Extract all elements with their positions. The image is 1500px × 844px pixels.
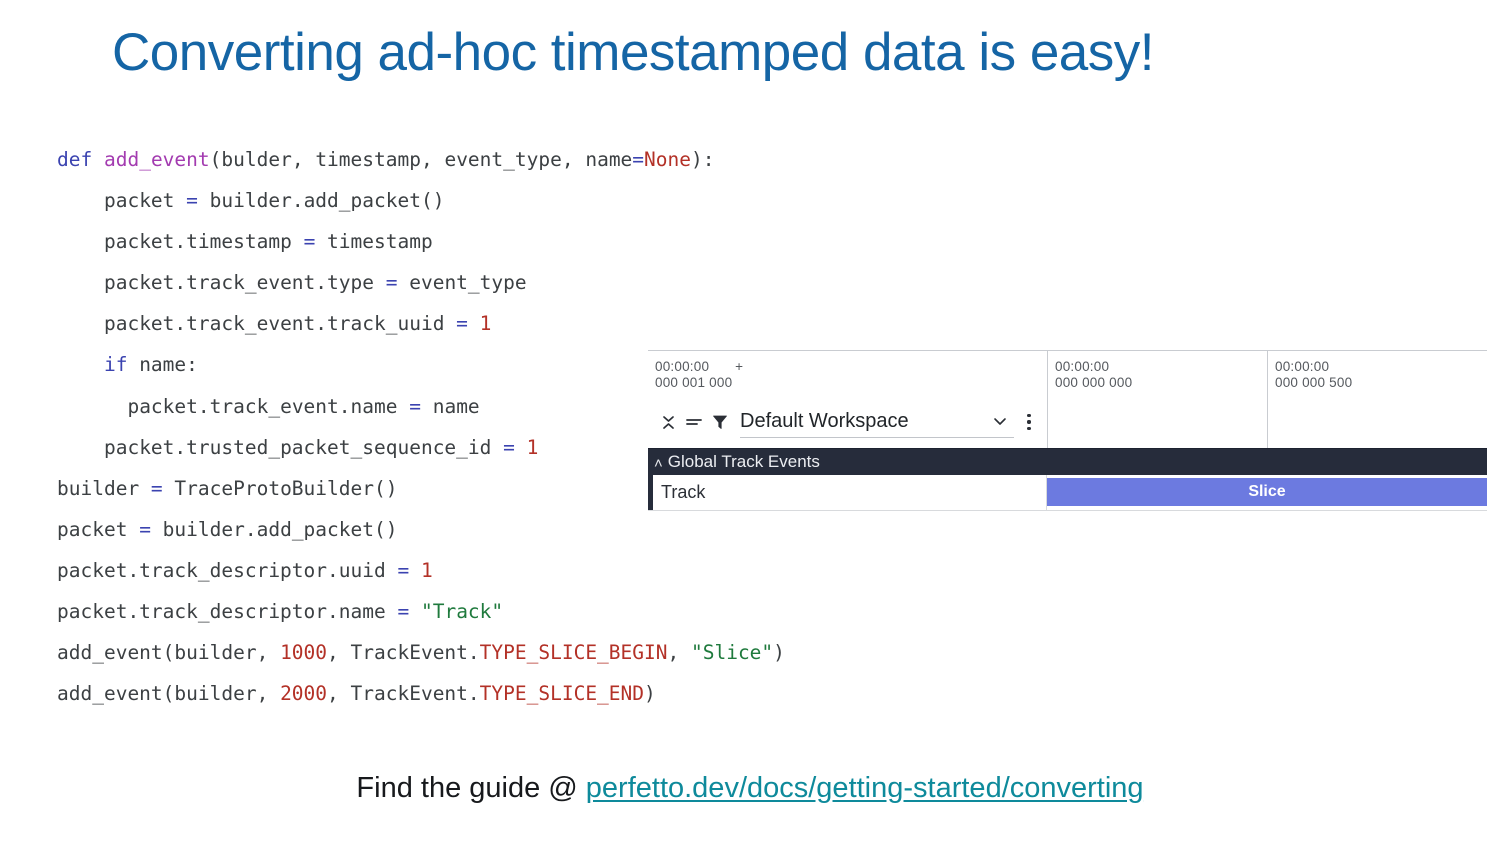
code-line: def add_event(bulder, timestamp, event_t… — [57, 139, 1017, 180]
code-indent — [57, 436, 104, 459]
code-line: add_event(builder, 1000, TrackEvent.TYPE… — [57, 632, 1017, 673]
code-line: packet.track_event.track_uuid = 1 — [57, 303, 1017, 344]
code-token: def — [57, 148, 92, 171]
code-token: TYPE_SLICE_BEGIN — [480, 641, 668, 664]
code-token — [515, 436, 527, 459]
ruler-tick-1: 00:00:00 000 000 000 — [1047, 351, 1267, 448]
ruler-tick-0-hms: 00:00:00 — [655, 359, 709, 374]
code-token: 1 — [480, 312, 492, 335]
code-token: = — [304, 230, 316, 253]
code-indent — [57, 312, 104, 335]
workspace-label: Default Workspace — [740, 410, 990, 433]
code-token: = — [409, 395, 421, 418]
collapse-all-icon[interactable] — [655, 409, 681, 435]
kebab-dot — [1027, 427, 1030, 430]
code-token: packet.track_descriptor.name — [57, 600, 397, 623]
code-token: packet.track_event.name — [127, 395, 409, 418]
code-token: ) — [644, 682, 656, 705]
code-token: = — [397, 600, 409, 623]
code-token: TYPE_SLICE_END — [480, 682, 644, 705]
code-token: 1000 — [280, 641, 327, 664]
code-indent — [57, 230, 104, 253]
code-token: = — [397, 559, 409, 582]
code-line: add_event(builder, 2000, TrackEvent.TYPE… — [57, 673, 1017, 714]
code-token: = — [503, 436, 515, 459]
code-token: packet — [104, 189, 186, 212]
track-canvas[interactable]: Slice — [1047, 475, 1487, 510]
code-token: , TrackEvent. — [327, 641, 480, 664]
code-token: , — [668, 641, 691, 664]
track-shelf[interactable]: Track — [653, 475, 1047, 510]
code-token: add_event(builder, — [57, 641, 280, 664]
timeline-ruler[interactable]: 00:00:00+ 000 001 000 — [648, 351, 1487, 448]
code-token: packet.track_event.type — [104, 271, 386, 294]
code-token: builder.add_packet() — [151, 518, 398, 541]
workspace-toolbar: Default Workspace — [655, 403, 1040, 441]
code-token: = — [386, 271, 398, 294]
code-token: if — [104, 353, 127, 376]
code-token — [92, 148, 104, 171]
code-line: packet.timestamp = timestamp — [57, 221, 1017, 262]
code-token: = — [139, 518, 151, 541]
slice-block[interactable]: Slice — [1047, 478, 1487, 506]
perfetto-timeline-panel: 00:00:00+ 000 001 000 — [648, 350, 1487, 511]
code-token: packet — [57, 518, 139, 541]
chevron-up-icon[interactable]: ˄ — [654, 456, 663, 471]
filter-funnel-icon[interactable] — [707, 409, 733, 435]
code-token: packet.timestamp — [104, 230, 304, 253]
guide-link[interactable]: perfetto.dev/docs/getting-started/conver… — [586, 772, 1144, 804]
ruler-tick-0-plus: + — [735, 359, 743, 375]
ruler-tick-2-sub: 000 000 500 — [1275, 375, 1487, 391]
code-token: (bulder, timestamp, event_type, name — [210, 148, 633, 171]
code-token: add_event — [104, 148, 210, 171]
code-token: builder.add_packet() — [198, 189, 445, 212]
ruler-tick-1-sub: 000 000 000 — [1055, 375, 1267, 391]
footer-prefix: Find the guide @ — [356, 772, 585, 804]
code-token: ) — [773, 641, 785, 664]
track-group-title: Global Track Events — [668, 452, 820, 472]
kebab-dot — [1027, 420, 1030, 423]
kebab-menu-icon[interactable] — [1018, 409, 1040, 435]
code-token: packet.trusted_packet_sequence_id — [104, 436, 503, 459]
code-token: 1 — [421, 559, 433, 582]
code-token: add_event(builder, — [57, 682, 280, 705]
code-token: TraceProtoBuilder() — [163, 477, 398, 500]
code-token — [468, 312, 480, 335]
code-token: 1 — [527, 436, 539, 459]
code-token: = — [632, 148, 644, 171]
code-line: packet = builder.add_packet() — [57, 509, 1017, 550]
code-token: None — [644, 148, 691, 171]
code-indent — [57, 271, 104, 294]
track-name-label: Track — [661, 482, 705, 503]
code-token: packet.track_descriptor.uuid — [57, 559, 397, 582]
code-token: = — [151, 477, 163, 500]
code-token: ): — [691, 148, 714, 171]
code-indent — [57, 395, 127, 418]
code-token: timestamp — [315, 230, 432, 253]
code-token: name — [421, 395, 480, 418]
code-token: packet.track_event.track_uuid — [104, 312, 456, 335]
kebab-dot — [1027, 414, 1030, 417]
page-title: Converting ad-hoc timestamped data is ea… — [112, 22, 1412, 85]
code-token: builder — [57, 477, 151, 500]
code-line: packet.track_descriptor.name = "Track" — [57, 591, 1017, 632]
code-line: packet.track_descriptor.uuid = 1 — [57, 550, 1017, 591]
ruler-tick-2-hms: 00:00:00 — [1275, 359, 1487, 375]
code-token — [409, 559, 421, 582]
code-token: = — [186, 189, 198, 212]
code-indent — [57, 189, 104, 212]
ruler-tick-0-sub: 000 001 000 — [655, 375, 1047, 391]
code-token: 2000 — [280, 682, 327, 705]
code-token: , TrackEvent. — [327, 682, 480, 705]
code-token: "Track" — [421, 600, 503, 623]
code-line: packet.track_event.type = event_type — [57, 262, 1017, 303]
workspace-selector[interactable]: Default Workspace — [740, 407, 1014, 438]
chevron-down-icon[interactable] — [990, 411, 1010, 431]
footer: Find the guide @ perfetto.dev/docs/getti… — [0, 772, 1500, 805]
slice-label: Slice — [1248, 483, 1285, 501]
track-group-header[interactable]: ˄ Global Track Events — [648, 448, 1487, 475]
code-token: "Slice" — [691, 641, 773, 664]
sort-lines-icon[interactable] — [681, 409, 707, 435]
ruler-tick-2: 00:00:00 000 000 500 — [1267, 351, 1487, 448]
ruler-tick-0-time: 00:00:00+ — [655, 359, 1047, 375]
code-token: name: — [127, 353, 197, 376]
slide-root: Converting ad-hoc timestamped data is ea… — [0, 0, 1500, 844]
track-row[interactable]: Track Slice — [648, 475, 1487, 511]
code-token: event_type — [397, 271, 526, 294]
code-indent — [57, 353, 104, 376]
ruler-tick-1-hms: 00:00:00 — [1055, 359, 1267, 375]
ruler-tick-0: 00:00:00+ 000 001 000 — [648, 351, 1047, 448]
code-line: packet = builder.add_packet() — [57, 180, 1017, 221]
code-token — [409, 600, 421, 623]
code-token: = — [456, 312, 468, 335]
